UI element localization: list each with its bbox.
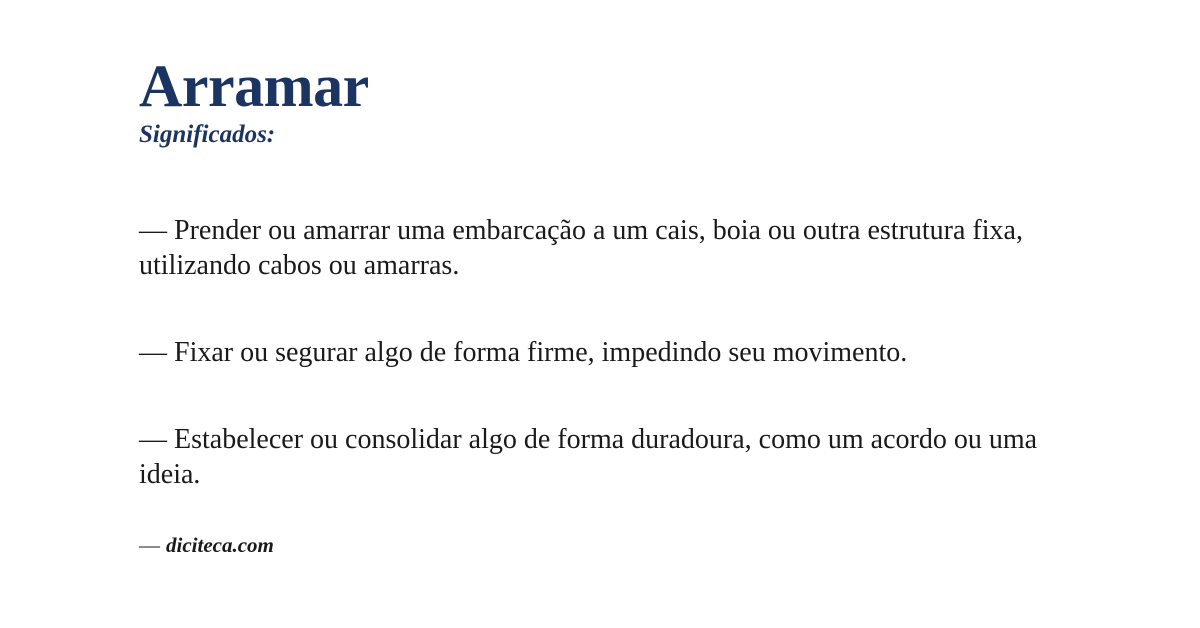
page-title: Arramar xyxy=(139,56,1040,116)
definition-dash-icon: — xyxy=(139,337,167,368)
source-name: diciteca.com xyxy=(166,533,274,557)
definition-card: Arramar Significados: — Prender ou amarr… xyxy=(0,0,1200,628)
definition-text: Estabelecer ou consolidar algo de forma … xyxy=(139,424,1037,490)
definition-dash-icon: — xyxy=(139,424,167,455)
definition-item: — Prender ou amarrar uma embarcação a um… xyxy=(139,213,1040,283)
definition-dash-icon: — xyxy=(139,215,167,246)
definition-text: Fixar ou segurar algo de forma firme, im… xyxy=(174,337,907,368)
heading-block: Arramar Significados: xyxy=(139,0,1040,150)
meanings-label: Significados: xyxy=(139,120,1040,150)
footer-dash-icon: — xyxy=(139,533,160,557)
definition-text: Prender ou amarrar uma embarcação a um c… xyxy=(139,215,1023,281)
definition-item: — Fixar ou segurar algo de forma firme, … xyxy=(139,335,1040,370)
definitions-list: — Prender ou amarrar uma embarcação a um… xyxy=(139,213,1040,492)
source-attribution: —diciteca.com xyxy=(139,533,274,558)
definition-item: — Estabelecer ou consolidar algo de form… xyxy=(139,422,1040,492)
